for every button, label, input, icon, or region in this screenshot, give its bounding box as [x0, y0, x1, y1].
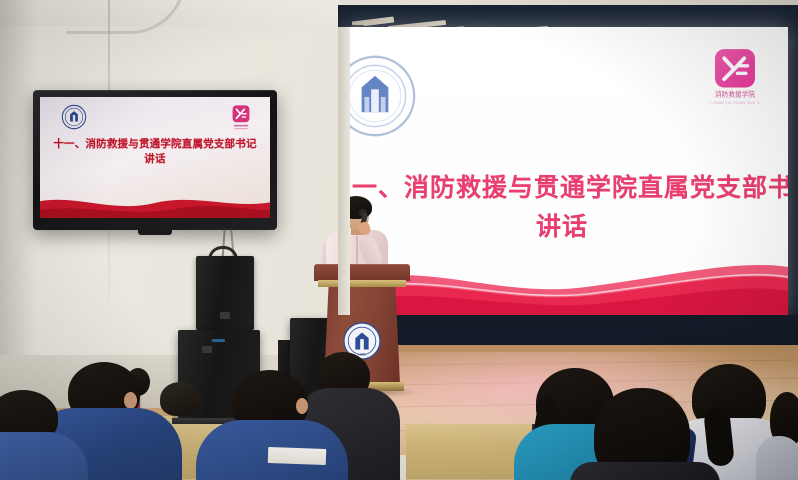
tv-slide-title-line1: 十一、消防救援与贯通学院直属党支部书记	[53, 138, 256, 150]
lectern-top-surface	[314, 264, 410, 281]
xf-academy-logo-icon	[230, 105, 252, 133]
university-seal-icon	[346, 53, 418, 139]
presentation-photo-scene: 十一、消防救援与贯通学院直属党支部书记 讲话	[0, 0, 798, 480]
tv-slide-wave-graphic	[40, 184, 270, 218]
tv-screen: 十一、消防救援与贯通学院直属党支部书记 讲话	[40, 97, 270, 218]
tv-stand-nub	[138, 230, 172, 235]
screen-left-edge-shadow	[338, 27, 350, 315]
slide-wave-graphic	[346, 239, 788, 315]
attendee-ear	[124, 392, 137, 409]
slide-title-line1: 一、消防救援与贯通学院直属党支部书记	[352, 169, 772, 208]
top-monitor-speaker	[196, 256, 254, 330]
attendee-right-edge	[756, 436, 798, 480]
svg-text:消防救援学院: 消防救援学院	[715, 90, 755, 99]
tv-slide-title-line2: 讲话	[47, 152, 263, 167]
projected-slide: 消防救援学院 XIAO FANG JIU YUAN XUE YUAN 一、消防救…	[346, 27, 788, 315]
tv-slide-title: 十一、消防救援与贯通学院直属党支部书记 讲话	[47, 137, 263, 167]
paper-sheet-center	[268, 447, 327, 465]
attendee-ear	[296, 398, 308, 414]
list-item	[160, 382, 200, 416]
attendee-long-hair-center-right	[570, 462, 720, 480]
xf-academy-logo-icon: 消防救援学院 XIAO FANG JIU YUAN XUE YUAN	[710, 49, 760, 111]
svg-text:XIAO FANG JIU YUAN XUE YUAN: XIAO FANG JIU YUAN XUE YUAN	[710, 101, 760, 105]
university-seal-icon	[61, 104, 87, 130]
slide-title: 一、消防救援与贯通学院直属党支部书记 讲话	[352, 169, 772, 247]
wall-mounted-tv[interactable]: 十一、消防救援与贯通学院直属党支部书记 讲话	[33, 90, 277, 230]
lectern-gold-trim	[318, 280, 406, 287]
